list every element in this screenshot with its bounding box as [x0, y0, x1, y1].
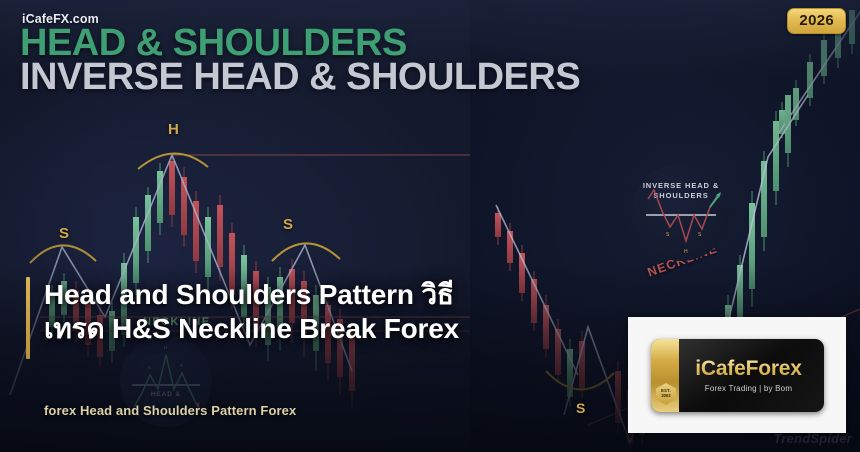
page-subtitle: forex Head and Shoulders Pattern Forex [44, 403, 296, 418]
inverse-hs-inset-diagram: INVERSE HEAD & SHOULDERS S S H [632, 163, 730, 261]
inset-right-svg: S S H [632, 163, 730, 261]
headline-secondary: INVERSE HEAD & SHOULDERS [20, 56, 580, 99]
logo-card: iCafeForex Forex Trading | by Bom EST. 2… [651, 339, 824, 412]
logo-card-frame: iCafeForex Forex Trading | by Bom EST. 2… [628, 317, 846, 433]
label-head: H [168, 121, 179, 138]
logo-brand-name: iCafeForex [679, 357, 818, 381]
infographic-canvas: S H S NECKLINE S NECKLINE INVERSE HEAD &… [0, 0, 860, 452]
logo-tagline: Forex Trading | by Bom [679, 384, 818, 393]
inset-left-title: HEAD & [120, 391, 212, 400]
title-accent-bar [26, 277, 30, 359]
year-badge: 2026 [787, 8, 846, 34]
page-title: Head and Shoulders Pattern วิธีเทรด H&S … [44, 278, 514, 346]
seal-line-2: 2002 [661, 394, 670, 399]
svg-text:S: S [666, 232, 670, 238]
svg-text:H: H [684, 249, 688, 255]
watermark: TrendSpider [773, 431, 852, 446]
svg-text:S: S [148, 365, 151, 370]
label-shoulder-left-inverse: S [576, 400, 585, 416]
svg-text:S: S [698, 232, 702, 238]
label-shoulder-left: S [59, 225, 69, 242]
label-shoulder-right: S [283, 216, 293, 233]
svg-text:S: S [180, 363, 183, 368]
